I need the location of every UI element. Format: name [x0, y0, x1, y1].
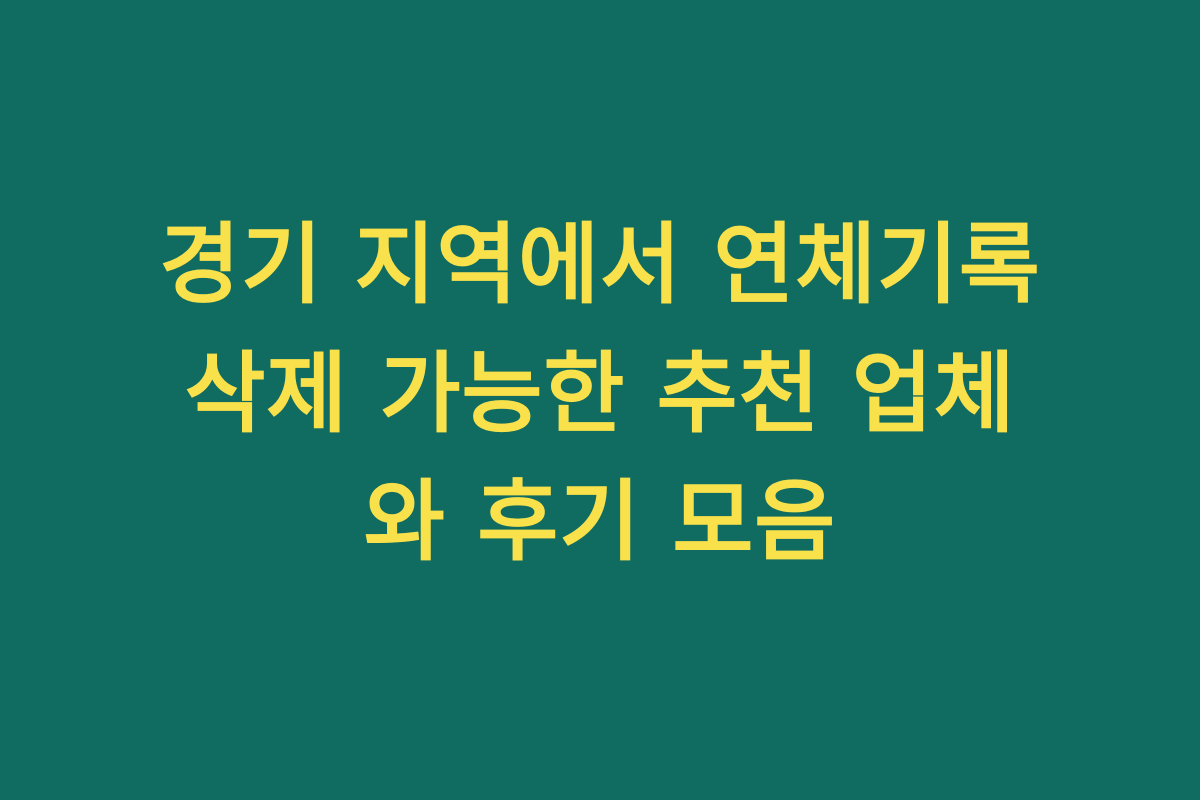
page-title-line-3: 와 후기 모음 — [55, 458, 1145, 586]
page-title-line-1: 경기 지역에서 연체기록 — [55, 201, 1145, 329]
page-title-line-2: 삭제 가능한 추천 업체 — [55, 330, 1145, 458]
page-title: 경기 지역에서 연체기록 삭제 가능한 추천 업체 와 후기 모음 — [55, 201, 1145, 586]
title-banner: 경기 지역에서 연체기록 삭제 가능한 추천 업체 와 후기 모음 — [0, 0, 1200, 800]
